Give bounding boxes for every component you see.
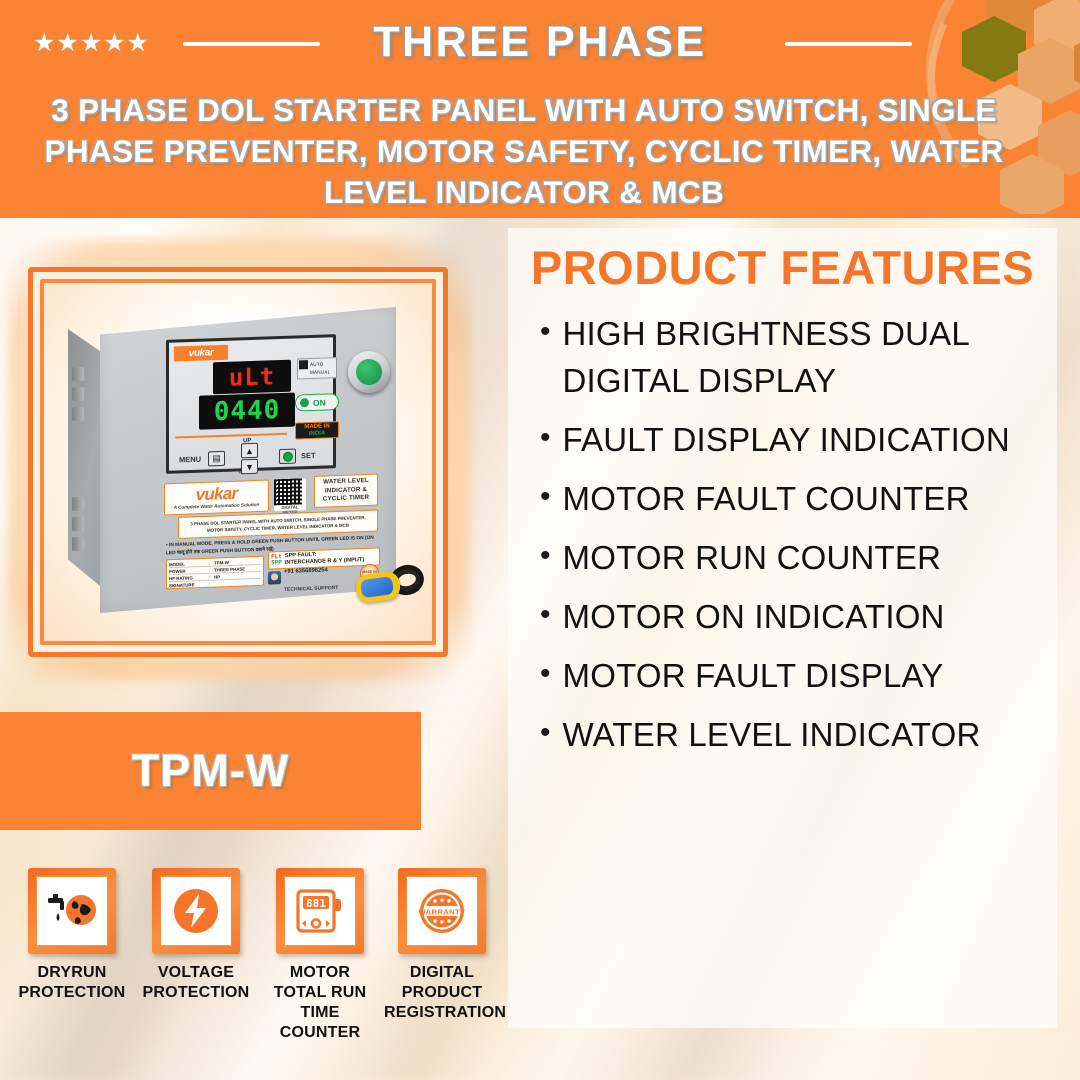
- benefit-icons-strip: DRYRUN PROTECTION VOLTAGE PROTECTION 881: [14, 868, 494, 1068]
- fault-display-red: uLt: [213, 360, 291, 395]
- feature-item: • MOTOR RUN COUNTER: [540, 534, 1060, 581]
- support-agent-avatar-icon: [268, 571, 281, 584]
- icon-inner-frame: 881: [284, 876, 356, 946]
- icon-inner-frame: [160, 876, 232, 946]
- header-eyebrow-title: THREE PHASE: [0, 18, 1080, 67]
- green-button-face: [356, 359, 382, 385]
- benefit-caption: MOTOR TOTAL RUN TIME COUNTER: [262, 963, 378, 1043]
- on-indicator-label: ON: [313, 397, 326, 407]
- menu-button[interactable]: ▤: [208, 451, 225, 467]
- header-subtitle: 3 PHASE DOL STARTER PANEL WITH AUTO SWIT…: [14, 90, 1034, 213]
- meter-brand-label: vukar: [189, 347, 214, 359]
- wli-badge-label: WATER LEVEL INDICATOR & CYCLIC TIMER: [315, 477, 377, 505]
- stop-push-button[interactable]: [410, 351, 436, 393]
- benefit-item-registration: WARRANTY DIGITAL PRODUCT REGISTRATION: [384, 868, 500, 1023]
- icon-tile: [28, 868, 116, 954]
- feature-item: • MOTOR FAULT DISPLAY: [540, 652, 1060, 699]
- up-button[interactable]: ▲: [241, 443, 258, 459]
- switch-lever-icon: [299, 360, 308, 369]
- tap-globe-icon: [44, 891, 100, 931]
- qr-code-icon: [274, 478, 302, 505]
- enclosure-front-face: vukar uLt 0440 AUTO MANUAL: [100, 307, 396, 613]
- bullet-icon: •: [540, 534, 551, 578]
- bullet-icon: •: [540, 416, 551, 460]
- digital-meter-module: vukar uLt 0440 AUTO MANUAL: [166, 334, 336, 474]
- qr-code-block: DIGITAL METER MANUAL: [274, 478, 306, 511]
- sticker-brand-name: vukar: [196, 485, 238, 504]
- start-push-button[interactable]: [348, 351, 390, 393]
- enclosure-hinge: [72, 407, 84, 421]
- bullet-icon: •: [540, 310, 551, 354]
- benefit-caption: VOLTAGE PROTECTION: [138, 963, 254, 1003]
- bullet-icon: •: [540, 711, 551, 755]
- spec-sep: :: [209, 582, 214, 587]
- set-key-label: SET: [301, 451, 316, 460]
- feature-label: MOTOR RUN COUNTER: [563, 534, 942, 581]
- chevron-down-icon: ▼: [245, 461, 254, 471]
- spp-code-2: SPP: [271, 560, 282, 567]
- check-circle-icon: [283, 451, 293, 461]
- enclosure-hinge: [72, 537, 84, 551]
- spec-key: MODEL: [169, 560, 209, 566]
- product-image-inner-frame: vukar uLt 0440 AUTO MANUAL: [40, 279, 436, 645]
- feature-item: • WATER LEVEL INDICATOR: [540, 711, 1060, 758]
- icon-tile: 881: [276, 868, 364, 954]
- feature-item: • MOTOR ON INDICATION: [540, 593, 1060, 640]
- sticker-spec-table: MODEL : TPM-W POWER : THREE PHASE HP RAT…: [166, 556, 264, 590]
- spec-key: SIGNATURE: [169, 582, 209, 588]
- spec-value: THREE PHASE: [214, 566, 245, 572]
- features-title: PRODUCT FEATURES: [508, 240, 1057, 295]
- wli-badge: WATER LEVEL INDICATOR & CYCLIC TIMER: [314, 474, 378, 508]
- icon-tile: WARRANTY: [398, 868, 486, 954]
- meter-device-icon: 881: [293, 887, 347, 935]
- sticker-brand-tagline: A Complete Water Automation Solution: [174, 501, 260, 511]
- support-label: TECHNICAL SUPPORT: [284, 585, 338, 593]
- model-name-banner: TPM-W: [0, 712, 421, 830]
- benefit-item-voltage: VOLTAGE PROTECTION: [138, 868, 254, 1003]
- spec-value: HP: [214, 574, 220, 579]
- feature-item: • HIGH BRIGHTNESS DUAL DIGITAL DISPLAY: [540, 310, 1060, 404]
- svg-text:WARRANTY: WARRANTY: [418, 907, 465, 916]
- feature-label: MOTOR FAULT COUNTER: [563, 475, 970, 522]
- header-banner: ★★★★★ THREE PHASE 3 PHASE DOL STARTER PA…: [0, 0, 1080, 218]
- door-lock-knob[interactable]: [433, 455, 436, 471]
- icon-tile: [152, 868, 240, 954]
- display-top-value: uLt: [229, 362, 275, 392]
- feature-label: MOTOR ON INDICATION: [563, 593, 945, 640]
- auto-manual-switch[interactable]: AUTO MANUAL: [297, 357, 337, 379]
- spp-code-group: FLt SPP: [271, 554, 282, 567]
- feature-item: • FAULT DISPLAY INDICATION: [540, 416, 1060, 463]
- sticker-description: 3 PHASE DOL STARTER PANEL WITH AUTO SWIT…: [182, 513, 374, 535]
- warranty-badge-icon: WARRANTY: [416, 886, 468, 936]
- support-text-group: +91 6356896254 TECHNICAL SUPPORT: [284, 558, 338, 596]
- feature-label: MOTOR FAULT DISPLAY: [563, 652, 944, 699]
- feature-label: FAULT DISPLAY INDICATION: [563, 416, 1010, 463]
- made-in-line2: INDIA: [309, 430, 325, 438]
- menu-key-label: MENU: [179, 455, 201, 465]
- display-bottom-value: 0440: [214, 395, 281, 427]
- down-button[interactable]: ▼: [241, 459, 258, 475]
- voltage-display-green: 0440: [199, 393, 295, 430]
- benefit-caption: DIGITAL PRODUCT REGISTRATION: [384, 963, 500, 1023]
- float-switch-accessory: [356, 561, 428, 609]
- svg-text:881: 881: [306, 897, 326, 910]
- spec-key: POWER: [169, 567, 209, 573]
- spec-value: TPM-W: [214, 560, 229, 566]
- feature-item: • MOTOR FAULT COUNTER: [540, 475, 1060, 522]
- control-panel-enclosure: vukar uLt 0440 AUTO MANUAL: [68, 307, 398, 607]
- manual-label: MANUAL: [310, 368, 336, 377]
- support-phone: +91 6356896254: [284, 567, 328, 575]
- motor-on-indicator: ON: [295, 393, 339, 411]
- menu-icon: ▤: [212, 453, 221, 464]
- red-button-face: [418, 359, 436, 385]
- enclosure-hinge: [72, 387, 84, 401]
- icon-inner-frame: WARRANTY: [406, 876, 478, 946]
- on-led-icon: [300, 398, 309, 407]
- float-switch-body: [354, 570, 401, 604]
- bullet-icon: •: [540, 593, 551, 637]
- bullet-icon: •: [540, 652, 551, 696]
- benefit-caption: DRYRUN PROTECTION: [14, 963, 130, 1003]
- meter-brand-tab: vukar: [174, 345, 228, 362]
- model-name: TPM-W: [132, 745, 289, 797]
- sticker-brand-block: vukar A Complete Water Automation Soluti…: [164, 480, 269, 516]
- feature-label: WATER LEVEL INDICATOR: [563, 711, 981, 758]
- icon-inner-frame: [36, 876, 108, 946]
- bullet-icon: •: [540, 475, 551, 519]
- benefit-item-runtime: 881 MOTOR TOTAL RUN TIME COUNTER: [262, 868, 378, 1043]
- lightning-bolt-icon: [172, 887, 220, 935]
- enclosure-hinge: [72, 517, 84, 531]
- meter-divider: [175, 433, 287, 439]
- made-in-india-badge: MADE IN INDIA: [295, 421, 339, 439]
- product-image-frame: vukar uLt 0440 AUTO MANUAL: [28, 267, 448, 657]
- chevron-up-icon: ▲: [245, 445, 254, 455]
- enclosure-hinge: [72, 497, 84, 511]
- spec-key: HP RATING: [169, 574, 209, 580]
- enclosure-hinge: [72, 367, 84, 381]
- meter-keypad: MENU UP DOWN SET ▤ ▲ ▼: [179, 441, 337, 472]
- features-list: • HIGH BRIGHTNESS DUAL DIGITAL DISPLAY •…: [540, 310, 1060, 770]
- set-button[interactable]: [279, 449, 296, 465]
- feature-label: HIGH BRIGHTNESS DUAL DIGITAL DISPLAY: [563, 310, 1060, 404]
- benefit-item-dryrun: DRYRUN PROTECTION: [14, 868, 130, 1003]
